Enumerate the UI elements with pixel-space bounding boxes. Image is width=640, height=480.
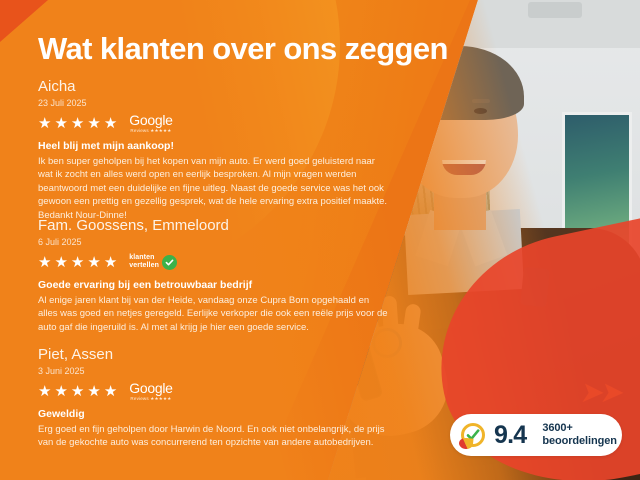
- review-body: Erg goed en fijn geholpen door Harwin de…: [38, 423, 388, 450]
- star-icon: ★: [71, 255, 84, 270]
- rating-count-label: beoordelingen: [542, 435, 616, 448]
- klantenvertellen-wordmark: klanten vertellen: [129, 254, 159, 270]
- google-reviews-sublabel: Reviews ★★★★★: [130, 128, 171, 134]
- review-author: Piet, Assen: [38, 346, 388, 364]
- review-date: 3 Juni 2025: [38, 365, 388, 378]
- star-icon: ★: [38, 116, 51, 131]
- star-rating: ★ ★ ★ ★ ★: [38, 116, 117, 131]
- review-meta: ★ ★ ★ ★ ★ Google Reviews ★★★★★: [38, 382, 388, 400]
- review-body: Al enige jaren klant bij van der Heide, …: [38, 294, 388, 334]
- klantenvertellen-check-icon: [460, 422, 486, 448]
- star-icon: ★: [87, 384, 100, 399]
- review-meta: ★ ★ ★ ★ ★ Google Reviews ★★★★★: [38, 114, 388, 132]
- star-icon: ★: [54, 255, 67, 270]
- review-title: Geweldig: [38, 407, 388, 421]
- star-icon: ★: [71, 116, 84, 131]
- klantenvertellen-line2: vertellen: [129, 262, 159, 270]
- aggregate-rating-badge[interactable]: 9.4 3600+ beoordelingen: [450, 414, 622, 456]
- star-icon: ★: [104, 255, 117, 270]
- review-title: Heel blij met mijn aankoop!: [38, 139, 388, 153]
- review-card: Piet, Assen 3 Juni 2025 ★ ★ ★ ★ ★ Google…: [38, 346, 388, 450]
- google-wordmark: Google: [129, 113, 172, 127]
- klantenvertellen-line1: klanten: [129, 254, 159, 262]
- star-icon: ★: [54, 116, 67, 131]
- google-reviews-badge: Google Reviews ★★★★★: [129, 381, 172, 402]
- star-rating: ★ ★ ★ ★ ★: [38, 384, 117, 399]
- star-rating: ★ ★ ★ ★ ★: [38, 255, 117, 270]
- google-reviews-badge: Google Reviews ★★★★★: [129, 113, 172, 134]
- page-title: Wat klanten over ons zeggen: [38, 31, 448, 67]
- google-reviews-sublabel: Reviews ★★★★★: [130, 396, 171, 402]
- review-date: 6 Juli 2025: [38, 236, 388, 249]
- review-banner: ➤➤ Wat klanten over ons zeggen Aicha 23 …: [0, 0, 640, 480]
- review-title: Goede ervaring bij een betrouwbaar bedri…: [38, 278, 388, 292]
- star-icon: ★: [38, 384, 51, 399]
- rating-count-number: 3600+: [542, 422, 616, 435]
- star-icon: ★: [104, 116, 117, 131]
- star-icon: ★: [87, 116, 100, 131]
- check-circle-icon: [162, 255, 177, 270]
- star-icon: ★: [104, 384, 117, 399]
- review-author: Aicha: [38, 78, 388, 96]
- rating-count: 3600+ beoordelingen: [542, 422, 616, 448]
- review-body: Ik ben super geholpen bij het kopen van …: [38, 155, 388, 222]
- review-card: Fam. Goossens, Emmeloord 6 Juli 2025 ★ ★…: [38, 217, 388, 334]
- review-meta: ★ ★ ★ ★ ★ klanten vertellen: [38, 253, 388, 271]
- klantenvertellen-badge: klanten vertellen: [129, 254, 177, 270]
- star-icon: ★: [38, 255, 51, 270]
- banner-content: Wat klanten over ons zeggen Aicha 23 Jul…: [0, 0, 640, 480]
- rating-score: 9.4: [494, 423, 526, 448]
- google-wordmark: Google: [129, 381, 172, 395]
- star-icon: ★: [54, 384, 67, 399]
- review-author: Fam. Goossens, Emmeloord: [38, 217, 388, 235]
- star-icon: ★: [71, 384, 84, 399]
- review-card: Aicha 23 Juli 2025 ★ ★ ★ ★ ★ Google Revi…: [38, 78, 388, 222]
- star-icon: ★: [87, 255, 100, 270]
- review-date: 23 Juli 2025: [38, 97, 388, 110]
